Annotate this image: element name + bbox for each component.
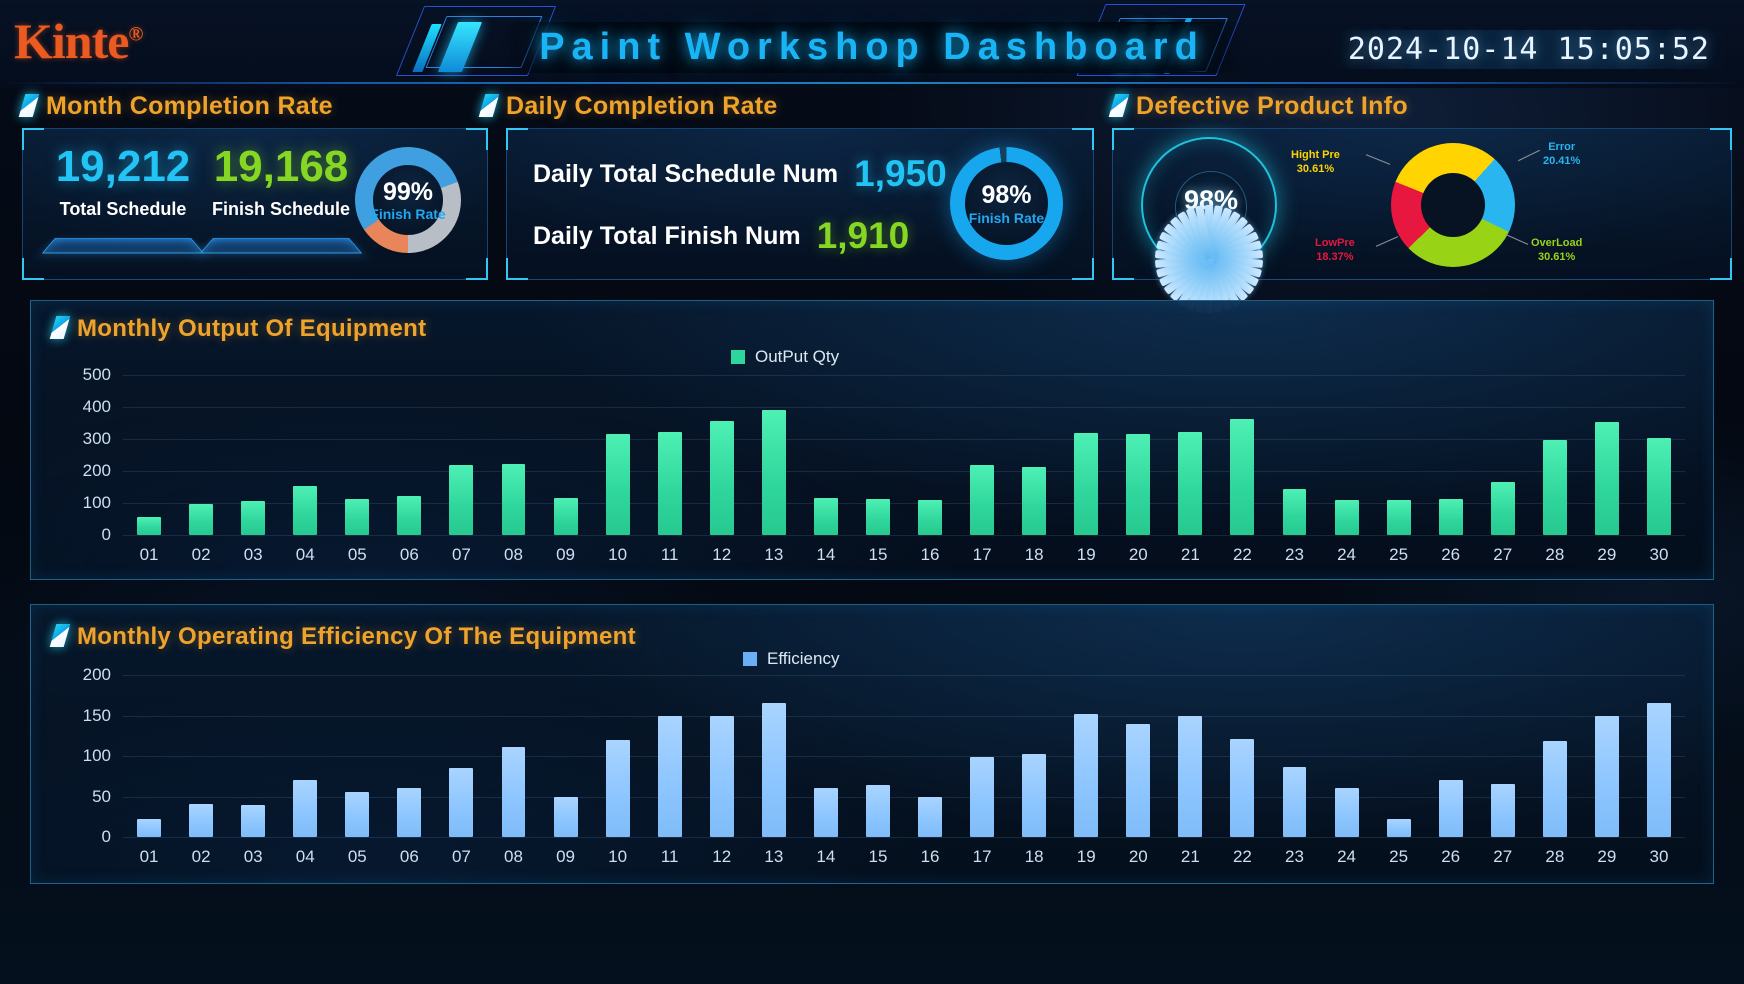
x-axis-tick-label: 06 bbox=[400, 847, 419, 867]
bar[interactable] bbox=[866, 499, 890, 535]
x-axis-tick-label: 17 bbox=[973, 545, 992, 565]
x-axis-tick-label: 25 bbox=[1389, 847, 1408, 867]
daily-finish-value: 1,910 bbox=[817, 215, 910, 257]
x-axis-tick-label: 23 bbox=[1285, 847, 1304, 867]
month-completion-card: 19,212 Total Schedule 19,168 Finish Sche… bbox=[22, 128, 488, 280]
y-axis-tick-label: 0 bbox=[102, 827, 111, 847]
x-axis-tick-label: 24 bbox=[1337, 847, 1356, 867]
chart1-legend: OutPut Qty bbox=[731, 347, 839, 367]
daily-ring-caption: Finish Rate bbox=[969, 210, 1044, 226]
x-axis-tick-label: 17 bbox=[973, 847, 992, 867]
header-divider bbox=[0, 82, 1744, 84]
bar[interactable] bbox=[241, 805, 265, 837]
donut-leader-line bbox=[1376, 236, 1398, 247]
donut-label-lowpre: LowPre 18.37% bbox=[1315, 237, 1355, 265]
y-axis-tick-label: 100 bbox=[83, 746, 111, 766]
kpi-total-schedule-value: 19,212 bbox=[43, 145, 203, 189]
x-axis-tick-label: 01 bbox=[140, 545, 159, 565]
gridline bbox=[123, 535, 1685, 536]
chart2-plot-area: 0501001502000102030405060708091011121314… bbox=[123, 675, 1685, 837]
x-axis-tick-label: 07 bbox=[452, 847, 471, 867]
bar[interactable] bbox=[710, 716, 734, 837]
bar[interactable] bbox=[137, 819, 161, 837]
bar[interactable] bbox=[1178, 716, 1202, 838]
monthly-output-chart-card: Monthly Output Of Equipment OutPut Qty 0… bbox=[30, 300, 1714, 580]
bar[interactable] bbox=[658, 716, 682, 838]
x-axis-tick-label: 03 bbox=[244, 545, 263, 565]
ring-text: 99% Finish Rate bbox=[370, 178, 445, 223]
diamond-marker-icon bbox=[50, 316, 71, 339]
bar[interactable] bbox=[554, 498, 578, 535]
daily-completion-card: Daily Total Schedule Num 1,950 Daily Tot… bbox=[506, 128, 1094, 280]
x-axis-tick-label: 09 bbox=[556, 847, 575, 867]
gridline bbox=[123, 439, 1685, 440]
x-axis-tick-label: 29 bbox=[1597, 545, 1616, 565]
donut-label-overload: OverLoad 30.61% bbox=[1531, 237, 1582, 265]
card-corner bbox=[1710, 128, 1732, 150]
daily-schedule-value: 1,950 bbox=[854, 153, 947, 195]
bar[interactable] bbox=[293, 486, 317, 535]
card-corner bbox=[1112, 128, 1134, 150]
x-axis-tick-label: 26 bbox=[1441, 847, 1460, 867]
y-axis-tick-label: 200 bbox=[83, 461, 111, 481]
legend-label-efficiency: Efficiency bbox=[767, 649, 839, 669]
diamond-marker-icon bbox=[50, 624, 71, 647]
y-axis-tick-label: 50 bbox=[92, 787, 111, 807]
x-axis-tick-label: 30 bbox=[1649, 847, 1668, 867]
bar[interactable] bbox=[241, 501, 265, 535]
donut-leader-line bbox=[1518, 150, 1540, 161]
section-title-month: Month Completion Rate bbox=[22, 92, 333, 121]
x-axis-tick-label: 12 bbox=[712, 545, 731, 565]
bar[interactable] bbox=[1230, 739, 1254, 837]
gridline bbox=[123, 407, 1685, 408]
gridline bbox=[123, 675, 1685, 676]
daily-row-finish: Daily Total Finish Num 1,910 bbox=[533, 215, 909, 257]
section-title-month-label: Month Completion Rate bbox=[46, 92, 333, 120]
x-axis-tick-label: 03 bbox=[244, 847, 263, 867]
bar[interactable] bbox=[970, 465, 994, 535]
x-axis-tick-label: 05 bbox=[348, 545, 367, 565]
chart2-legend: Efficiency bbox=[743, 649, 839, 669]
gridline bbox=[123, 756, 1685, 757]
x-axis-tick-label: 05 bbox=[348, 847, 367, 867]
bar[interactable] bbox=[814, 788, 838, 837]
x-axis-tick-label: 22 bbox=[1233, 545, 1252, 565]
bar[interactable] bbox=[1439, 499, 1463, 535]
gridline bbox=[123, 716, 1685, 717]
bar[interactable] bbox=[554, 797, 578, 837]
card-corner bbox=[506, 258, 528, 280]
bar[interactable] bbox=[189, 504, 213, 535]
bar[interactable] bbox=[1126, 434, 1150, 535]
bar[interactable] bbox=[345, 792, 369, 837]
daily-ring-percent: 98% bbox=[969, 181, 1044, 210]
x-axis-tick-label: 06 bbox=[400, 545, 419, 565]
card-corner bbox=[506, 128, 528, 150]
bar[interactable] bbox=[502, 464, 526, 535]
x-axis-tick-label: 22 bbox=[1233, 847, 1252, 867]
bar[interactable] bbox=[1491, 784, 1515, 837]
legend-swatch-efficiency bbox=[743, 652, 757, 666]
defective-product-card: 98% Yaild Hight Pre 30.61% Error 20.41% … bbox=[1112, 128, 1732, 280]
dashboard-header: Kinte® Paint Workshop Dashboard 2024-10-… bbox=[0, 0, 1744, 88]
diamond-marker-icon bbox=[1109, 94, 1130, 117]
x-axis-tick-label: 04 bbox=[296, 847, 315, 867]
bar[interactable] bbox=[397, 788, 421, 837]
x-axis-tick-label: 21 bbox=[1181, 545, 1200, 565]
card-corner bbox=[1072, 128, 1094, 150]
donut-leader-line bbox=[1366, 154, 1390, 165]
bar[interactable] bbox=[1543, 440, 1567, 535]
x-axis-tick-label: 12 bbox=[712, 847, 731, 867]
bar[interactable] bbox=[293, 780, 317, 837]
daily-schedule-label: Daily Total Schedule Num bbox=[533, 160, 838, 189]
section-title-daily-label: Daily Completion Rate bbox=[506, 92, 778, 120]
bar[interactable] bbox=[1387, 819, 1411, 837]
x-axis-tick-label: 02 bbox=[192, 847, 211, 867]
defect-type-donut bbox=[1391, 143, 1515, 267]
y-axis-tick-label: 300 bbox=[83, 429, 111, 449]
bar[interactable] bbox=[1126, 724, 1150, 837]
month-ring-percent: 99% bbox=[370, 178, 445, 207]
card-corner bbox=[466, 128, 488, 150]
chart1-title: Monthly Output Of Equipment bbox=[53, 315, 426, 343]
bar[interactable] bbox=[866, 785, 890, 837]
kpi-total-schedule: 19,212 Total Schedule bbox=[43, 145, 203, 256]
x-axis-tick-label: 13 bbox=[764, 545, 783, 565]
section-title-defect-label: Defective Product Info bbox=[1136, 92, 1408, 120]
bar[interactable] bbox=[1439, 780, 1463, 837]
monthly-efficiency-chart-card: Monthly Operating Efficiency Of The Equi… bbox=[30, 604, 1714, 884]
bar[interactable] bbox=[137, 517, 161, 535]
x-axis-tick-label: 14 bbox=[816, 545, 835, 565]
x-axis-tick-label: 08 bbox=[504, 847, 523, 867]
month-ring-caption: Finish Rate bbox=[370, 206, 445, 222]
y-axis-tick-label: 100 bbox=[83, 493, 111, 513]
bar[interactable] bbox=[918, 797, 942, 837]
donut-label-lowpre-name: LowPre bbox=[1315, 237, 1355, 251]
x-axis-tick-label: 04 bbox=[296, 545, 315, 565]
gridline bbox=[123, 471, 1685, 472]
bar[interactable] bbox=[1595, 422, 1619, 535]
bar[interactable] bbox=[1230, 419, 1254, 535]
x-axis-tick-label: 23 bbox=[1285, 545, 1304, 565]
bar[interactable] bbox=[762, 410, 786, 535]
donut-label-hight-pre-name: Hight Pre bbox=[1291, 149, 1340, 163]
x-axis-tick-label: 11 bbox=[661, 847, 679, 867]
x-axis-tick-label: 09 bbox=[556, 545, 575, 565]
bar[interactable] bbox=[970, 757, 994, 837]
bar[interactable] bbox=[502, 747, 526, 837]
x-axis-tick-label: 15 bbox=[868, 847, 887, 867]
donut-leader-line bbox=[1506, 234, 1528, 245]
bar[interactable] bbox=[606, 740, 630, 837]
x-axis-tick-label: 28 bbox=[1545, 847, 1564, 867]
bar[interactable] bbox=[658, 432, 682, 535]
x-axis-tick-label: 28 bbox=[1545, 545, 1564, 565]
legend-swatch-output-qty bbox=[731, 350, 745, 364]
x-axis-tick-label: 16 bbox=[921, 847, 940, 867]
kpi-total-schedule-label: Total Schedule bbox=[43, 199, 203, 220]
kpi-pedestal bbox=[42, 238, 204, 253]
bar[interactable] bbox=[1074, 433, 1098, 535]
donut-label-error-name: Error bbox=[1543, 141, 1580, 155]
daily-row-schedule: Daily Total Schedule Num 1,950 bbox=[533, 153, 947, 195]
kpi-finish-schedule: 19,168 Finish Schedule bbox=[201, 145, 361, 256]
x-axis-tick-label: 18 bbox=[1025, 545, 1044, 565]
x-axis-tick-label: 08 bbox=[504, 545, 523, 565]
gridline bbox=[123, 375, 1685, 376]
donut-label-lowpre-pct: 18.37% bbox=[1315, 251, 1355, 265]
bar[interactable] bbox=[710, 421, 734, 535]
bar[interactable] bbox=[1387, 500, 1411, 535]
chart2-title: Monthly Operating Efficiency Of The Equi… bbox=[53, 623, 636, 651]
bar[interactable] bbox=[449, 768, 473, 837]
diamond-marker-icon bbox=[479, 94, 500, 117]
donut-label-hight-pre-pct: 30.61% bbox=[1291, 163, 1340, 177]
legend-label-output-qty: OutPut Qty bbox=[755, 347, 839, 367]
x-axis-tick-label: 02 bbox=[192, 545, 211, 565]
bar[interactable] bbox=[918, 500, 942, 535]
x-axis-tick-label: 13 bbox=[764, 847, 783, 867]
bar[interactable] bbox=[1178, 432, 1202, 535]
x-axis-tick-label: 19 bbox=[1077, 847, 1096, 867]
y-axis-tick-label: 150 bbox=[83, 706, 111, 726]
x-axis-tick-label: 01 bbox=[140, 847, 159, 867]
card-corner bbox=[1112, 258, 1134, 280]
chart2-title-label: Monthly Operating Efficiency Of The Equi… bbox=[77, 623, 636, 650]
donut-label-hight-pre: Hight Pre 30.61% bbox=[1291, 149, 1340, 177]
bar[interactable] bbox=[762, 703, 786, 837]
bar[interactable] bbox=[1491, 482, 1515, 535]
x-axis-tick-label: 16 bbox=[921, 545, 940, 565]
y-axis-tick-label: 500 bbox=[83, 365, 111, 385]
bar[interactable] bbox=[1543, 741, 1567, 837]
x-axis-tick-label: 18 bbox=[1025, 847, 1044, 867]
bar[interactable] bbox=[189, 804, 213, 837]
ring-text: 98% Finish Rate bbox=[969, 181, 1044, 226]
x-axis-tick-label: 19 bbox=[1077, 545, 1096, 565]
card-corner bbox=[22, 258, 44, 280]
x-axis-tick-label: 27 bbox=[1493, 545, 1512, 565]
section-title-daily: Daily Completion Rate bbox=[482, 92, 778, 121]
gridline bbox=[123, 837, 1685, 838]
month-finish-rate-ring: 99% Finish Rate bbox=[355, 147, 461, 253]
card-corner bbox=[22, 128, 44, 150]
page-title: Paint Workshop Dashboard bbox=[499, 22, 1245, 73]
bar[interactable] bbox=[1283, 489, 1307, 535]
x-axis-tick-label: 27 bbox=[1493, 847, 1512, 867]
y-axis-tick-label: 200 bbox=[83, 665, 111, 685]
y-axis-tick-label: 400 bbox=[83, 397, 111, 417]
card-corner bbox=[1710, 258, 1732, 280]
bar[interactable] bbox=[1647, 703, 1671, 837]
kpi-finish-schedule-value: 19,168 bbox=[201, 145, 361, 189]
bar[interactable] bbox=[1022, 754, 1046, 837]
bar[interactable] bbox=[1647, 438, 1671, 535]
x-axis-tick-label: 26 bbox=[1441, 545, 1460, 565]
donut-label-overload-name: OverLoad bbox=[1531, 237, 1582, 251]
donut-hole bbox=[1421, 173, 1485, 237]
bar[interactable] bbox=[1074, 714, 1098, 837]
donut-label-error-pct: 20.41% bbox=[1543, 155, 1580, 169]
x-axis-tick-label: 14 bbox=[816, 847, 835, 867]
current-datetime: 2024-10-14 15:05:52 bbox=[1332, 30, 1726, 69]
card-corner bbox=[1072, 258, 1094, 280]
card-corner bbox=[466, 258, 488, 280]
bar[interactable] bbox=[1335, 500, 1359, 535]
x-axis-tick-label: 24 bbox=[1337, 545, 1356, 565]
x-axis-tick-label: 25 bbox=[1389, 545, 1408, 565]
kpi-pedestal bbox=[200, 238, 362, 253]
daily-finish-rate-ring: 98% Finish Rate bbox=[950, 147, 1063, 260]
x-axis-tick-label: 29 bbox=[1597, 847, 1616, 867]
bar[interactable] bbox=[397, 496, 421, 535]
donut-label-overload-pct: 30.61% bbox=[1531, 251, 1582, 265]
kpi-finish-schedule-label: Finish Schedule bbox=[201, 199, 361, 220]
donut-label-error: Error 20.41% bbox=[1543, 141, 1580, 169]
chart1-title-label: Monthly Output Of Equipment bbox=[77, 315, 426, 342]
yield-gauge: 98% Yaild bbox=[1141, 137, 1277, 273]
x-axis-tick-label: 07 bbox=[452, 545, 471, 565]
bar[interactable] bbox=[1335, 788, 1359, 837]
x-axis-tick-label: 11 bbox=[661, 545, 679, 565]
daily-finish-label: Daily Total Finish Num bbox=[533, 222, 801, 251]
bar[interactable] bbox=[814, 498, 838, 535]
x-axis-tick-label: 30 bbox=[1649, 545, 1668, 565]
section-title-defect: Defective Product Info bbox=[1112, 92, 1408, 121]
x-axis-tick-label: 20 bbox=[1129, 847, 1148, 867]
chart1-plot-area: 0100200300400500010203040506070809101112… bbox=[123, 375, 1685, 535]
bar[interactable] bbox=[606, 434, 630, 535]
bar[interactable] bbox=[449, 465, 473, 535]
diamond-marker-icon bbox=[19, 94, 40, 117]
y-axis-tick-label: 0 bbox=[102, 525, 111, 545]
x-axis-tick-label: 10 bbox=[608, 545, 627, 565]
bar[interactable] bbox=[1283, 767, 1307, 837]
x-axis-tick-label: 21 bbox=[1181, 847, 1200, 867]
x-axis-tick-label: 10 bbox=[608, 847, 627, 867]
bar[interactable] bbox=[345, 499, 369, 535]
bar[interactable] bbox=[1595, 716, 1619, 837]
x-axis-tick-label: 20 bbox=[1129, 545, 1148, 565]
bar[interactable] bbox=[1022, 467, 1046, 535]
x-axis-tick-label: 15 bbox=[868, 545, 887, 565]
